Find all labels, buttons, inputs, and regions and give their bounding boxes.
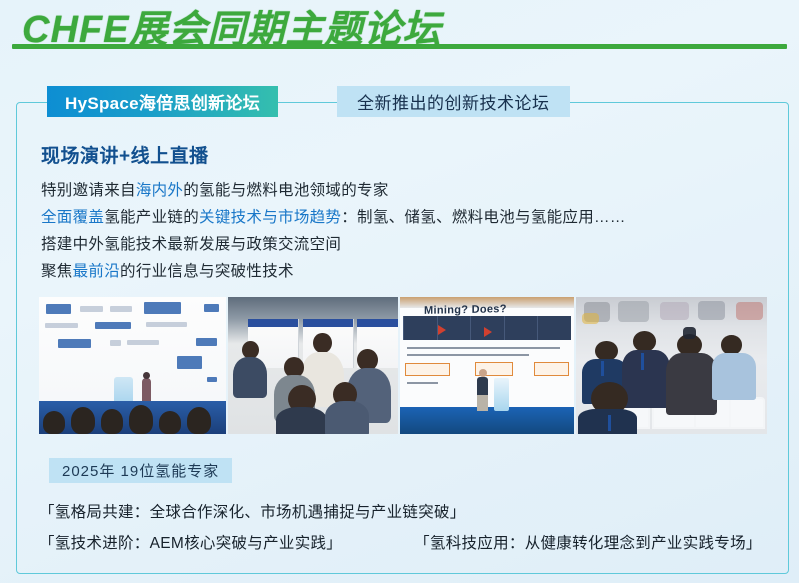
photo-seated-audience-photographing[interactable]	[576, 297, 767, 434]
forum-topic-2: 「氢技术进阶：AEM核心突破与产业实践」	[39, 531, 342, 553]
text-segment: 的氢能与燃料电池领域的专家	[183, 182, 388, 199]
page-header: CHFE展会同期主题论坛	[0, 0, 799, 56]
forum-topic-3: 「氢科技应用：从健康转化理念到产业实践专场」	[414, 531, 762, 553]
photo-keynote-speaker-presentation[interactable]: Mining? Does?	[400, 297, 574, 434]
smartphone	[683, 327, 696, 339]
attendee-looking-up	[622, 350, 670, 408]
event-photo-strip: Mining? Does?	[39, 297, 767, 434]
forum-description: 现场演讲+线上直播 特别邀请来自海内外的氢能与燃料电池领域的专家 全面覆盖氢能产…	[41, 141, 771, 285]
body-line-2: 全面覆盖氢能产业链的关键技术与市场趋势：制氢、储氢、燃料电池与氢能应用……	[41, 204, 771, 231]
header-divider	[12, 44, 787, 49]
slide-title: Mining? Does?	[424, 303, 507, 317]
text-segment: 搭建中外氢能技术最新发展与政策交流空间	[41, 236, 341, 253]
body-line-1: 特别邀请来自海内外的氢能与燃料电池领域的专家	[41, 177, 771, 204]
tab-new-tech-forum[interactable]: 全新推出的创新技术论坛	[337, 86, 570, 117]
forum-topic-row-1: 「氢格局共建：全球合作深化、市场机遇捕捉与产业链突破」	[39, 500, 466, 522]
text-segment: 氢能产业链的	[104, 209, 199, 226]
attendee-taking-photo	[666, 353, 718, 415]
text-segment-highlight: 关键技术与市场趋势	[199, 209, 341, 226]
body-line-3: 搭建中外氢能技术最新发展与政策交流空间	[41, 231, 771, 258]
lectern	[494, 378, 509, 411]
forum-panel: HySpace海倍思创新论坛 全新推出的创新技术论坛 现场演讲+线上直播 特别邀…	[16, 102, 789, 574]
forum-topic-1: 「氢格局共建：全球合作深化、市场机遇捕捉与产业链突破」	[39, 504, 466, 521]
photo-sponsor-logo-wall-stage[interactable]	[39, 297, 226, 434]
text-segment-highlight: 海内外	[136, 182, 183, 199]
tab-hyspace-forum[interactable]: HySpace海倍思创新论坛	[47, 86, 278, 117]
photo-exhibition-audience-microphone[interactable]	[228, 297, 398, 434]
text-segment: 聚焦	[41, 263, 73, 280]
text-segment: 的行业信息与突破性技术	[120, 263, 294, 280]
forum-topic-row-2: 「氢技术进阶：AEM核心突破与产业实践」 「氢科技应用：从健康转化理念到产业实践…	[39, 531, 769, 553]
expert-count-badge: 2025年 19位氢能专家	[49, 458, 232, 483]
body-line-4: 聚焦最前沿的行业信息与突破性技术	[41, 258, 771, 285]
lead-heading: 现场演讲+线上直播	[41, 141, 771, 168]
text-segment-highlight: 全面覆盖	[41, 209, 104, 226]
text-segment: 特别邀请来自	[41, 182, 136, 199]
text-segment: ：制氢、储氢、燃料电池与氢能应用……	[341, 209, 625, 226]
text-segment-highlight: 最前沿	[73, 263, 120, 280]
